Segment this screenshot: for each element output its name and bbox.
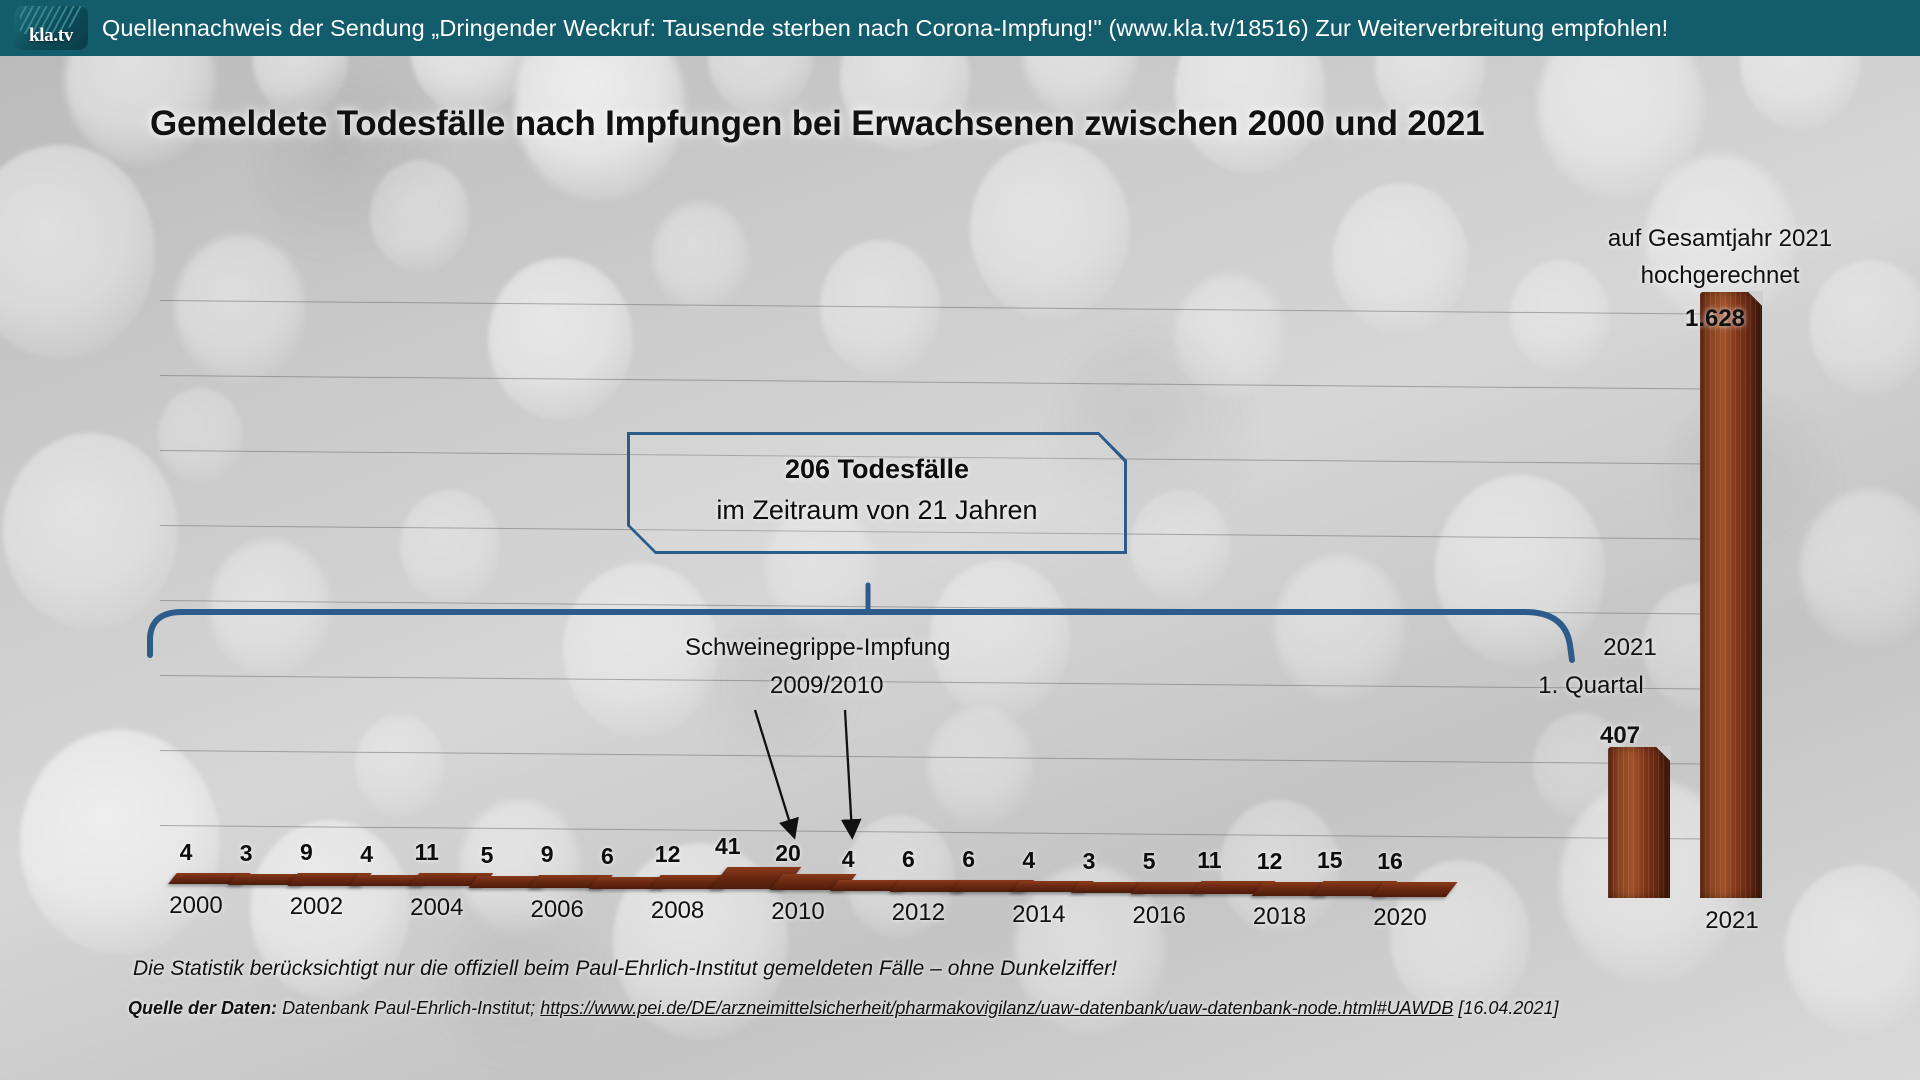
bar-value-2008: 12 xyxy=(640,841,696,868)
bar-value-2013: 6 xyxy=(941,846,997,873)
bar-value-2007: 6 xyxy=(579,843,635,870)
x-tick-2010: 2010 xyxy=(748,898,848,926)
annotation-projection-line-1: auf Gesamtjahr 2021 xyxy=(1560,225,1880,253)
x-tick-2004: 2004 xyxy=(387,894,487,922)
bar-value-2021-projected: 1.628 xyxy=(1600,305,1830,333)
klatv-logo: kla.tv xyxy=(14,6,88,50)
bar-value-2009: 41 xyxy=(700,833,756,860)
bar-2021-projected xyxy=(1700,292,1762,898)
bar-value-2017: 11 xyxy=(1181,847,1237,874)
bar-value-2011: 4 xyxy=(820,846,876,873)
footer-source-label: Quelle der Daten: xyxy=(128,998,277,1018)
bar-value-2021-q1: 407 xyxy=(1560,722,1680,750)
annotation-projection-line-2: hochgerechnet xyxy=(1560,262,1880,290)
bar-value-2004: 11 xyxy=(399,839,455,866)
footer-source: Quelle der Daten: Datenbank Paul-Ehrlich… xyxy=(128,998,1558,1019)
callout-line-2: im Zeitraum von 21 Jahren xyxy=(627,495,1127,526)
footer-source-url[interactable]: https://www.pei.de/DE/arzneimittelsicher… xyxy=(540,998,1453,1018)
bar-value-2018: 12 xyxy=(1242,848,1298,875)
annotation-swineflu-line-1: Schweinegrippe-Impfung xyxy=(685,634,951,662)
source-banner: kla.tv Quellennachweis der Sendung „Drin… xyxy=(0,0,1920,56)
bar-value-2020: 16 xyxy=(1362,848,1418,875)
callout-border xyxy=(627,432,1127,554)
annotation-quarter-line-1: 2021 xyxy=(1560,634,1700,662)
page-title: Gemeldete Todesfälle nach Impfungen bei … xyxy=(150,104,1484,144)
footer-note: Die Statistik berücksichtigt nur die off… xyxy=(133,957,1117,981)
banner-text: Quellennachweis der Sendung „Dringender … xyxy=(102,15,1668,42)
bar-value-2001: 3 xyxy=(218,840,274,867)
bar-value-2003: 4 xyxy=(339,841,395,868)
footer-source-date: [16.04.2021] xyxy=(1458,998,1558,1018)
x-tick-2016: 2016 xyxy=(1109,902,1209,930)
annotation-quarter-line-2: 1. Quartal xyxy=(1482,672,1700,700)
footer-source-text: Datenbank Paul-Ehrlich-Institut; xyxy=(282,998,535,1018)
x-tick-2021: 2021 xyxy=(1682,907,1782,935)
x-tick-2014: 2014 xyxy=(989,901,1089,929)
bar-2021-q1 xyxy=(1608,747,1670,898)
x-tick-2018: 2018 xyxy=(1230,903,1330,931)
bar-value-2000: 4 xyxy=(158,839,214,866)
bar-value-2012: 6 xyxy=(880,846,936,873)
x-tick-2008: 2008 xyxy=(628,897,728,925)
callout-line-1: 206 Todesfälle xyxy=(627,454,1127,485)
logo-text: kla.tv xyxy=(29,25,73,50)
bar-value-2010: 20 xyxy=(760,840,816,867)
bar-value-2002: 9 xyxy=(278,839,334,866)
x-tick-2000: 2000 xyxy=(146,892,246,920)
bar-value-2005: 5 xyxy=(459,842,515,869)
x-tick-2012: 2012 xyxy=(868,899,968,927)
x-tick-2020: 2020 xyxy=(1350,904,1450,932)
callout-box: 206 Todesfälle im Zeitraum von 21 Jahren xyxy=(627,432,1127,554)
bar-value-2019: 15 xyxy=(1302,847,1358,874)
bar-value-2014: 4 xyxy=(1001,847,1057,874)
bar-value-2006: 9 xyxy=(519,841,575,868)
bar-value-2016: 5 xyxy=(1121,848,1177,875)
x-tick-2006: 2006 xyxy=(507,896,607,924)
x-tick-2002: 2002 xyxy=(266,893,366,921)
annotation-swineflu-line-2: 2009/2010 xyxy=(770,672,883,700)
bar-value-2015: 3 xyxy=(1061,848,1117,875)
